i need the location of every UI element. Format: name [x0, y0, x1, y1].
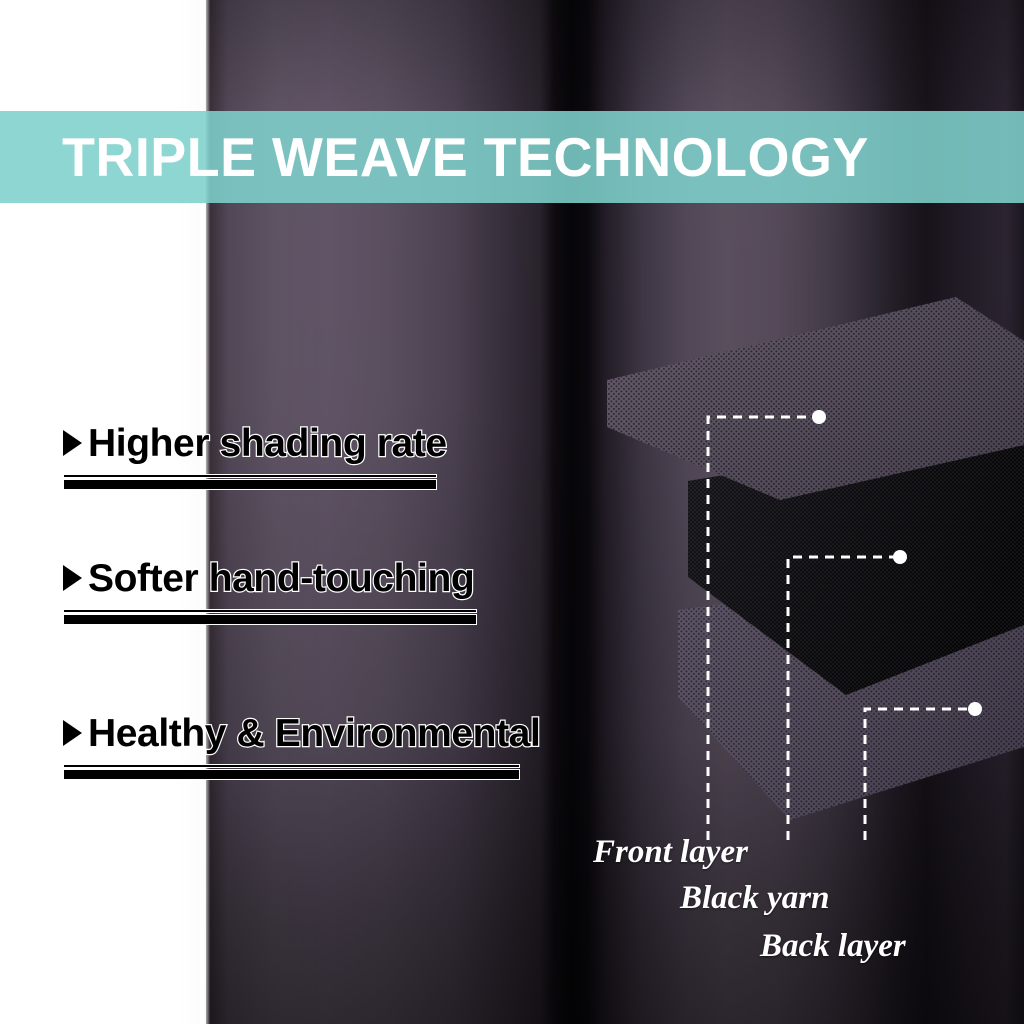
rule-thin-line	[63, 764, 520, 768]
feature-row-1: Higher shading rate	[63, 420, 447, 466]
triangle-right-icon	[63, 565, 82, 591]
feature-label-1: Higher shading rate	[88, 424, 447, 463]
rule-thin-line	[63, 609, 477, 613]
feature-label-2: Softer hand-touching	[88, 559, 474, 598]
triangle-right-icon	[63, 430, 82, 456]
feature-item-3: Healthy & Environmental	[63, 710, 540, 780]
triangle-right-icon	[63, 720, 82, 746]
label-back-layer: Back layer	[760, 930, 906, 963]
title-banner: TRIPLE WEAVE TECHNOLOGY	[0, 111, 1024, 203]
rule-thick-line	[63, 479, 437, 490]
feature-item-2: Softer hand-touching	[63, 555, 477, 625]
feature-rule-3	[63, 764, 540, 780]
feature-item-1: Higher shading rate	[63, 420, 447, 490]
label-black-yarn: Black yarn	[680, 882, 829, 915]
label-front-layer: Front layer	[593, 836, 748, 869]
feature-label-3: Healthy & Environmental	[88, 714, 540, 753]
banner-title-text: TRIPLE WEAVE TECHNOLOGY	[62, 130, 869, 185]
rule-thick-line	[63, 614, 477, 625]
feature-rule-2	[63, 609, 477, 625]
rule-thick-line	[63, 769, 520, 780]
product-infographic: TRIPLE WEAVE TECHNOLOGY Higher shading r…	[0, 0, 1024, 1024]
rule-thin-line	[63, 474, 437, 478]
feature-rule-1	[63, 474, 447, 490]
feature-row-2: Softer hand-touching	[63, 555, 477, 601]
feature-row-3: Healthy & Environmental	[63, 710, 540, 756]
